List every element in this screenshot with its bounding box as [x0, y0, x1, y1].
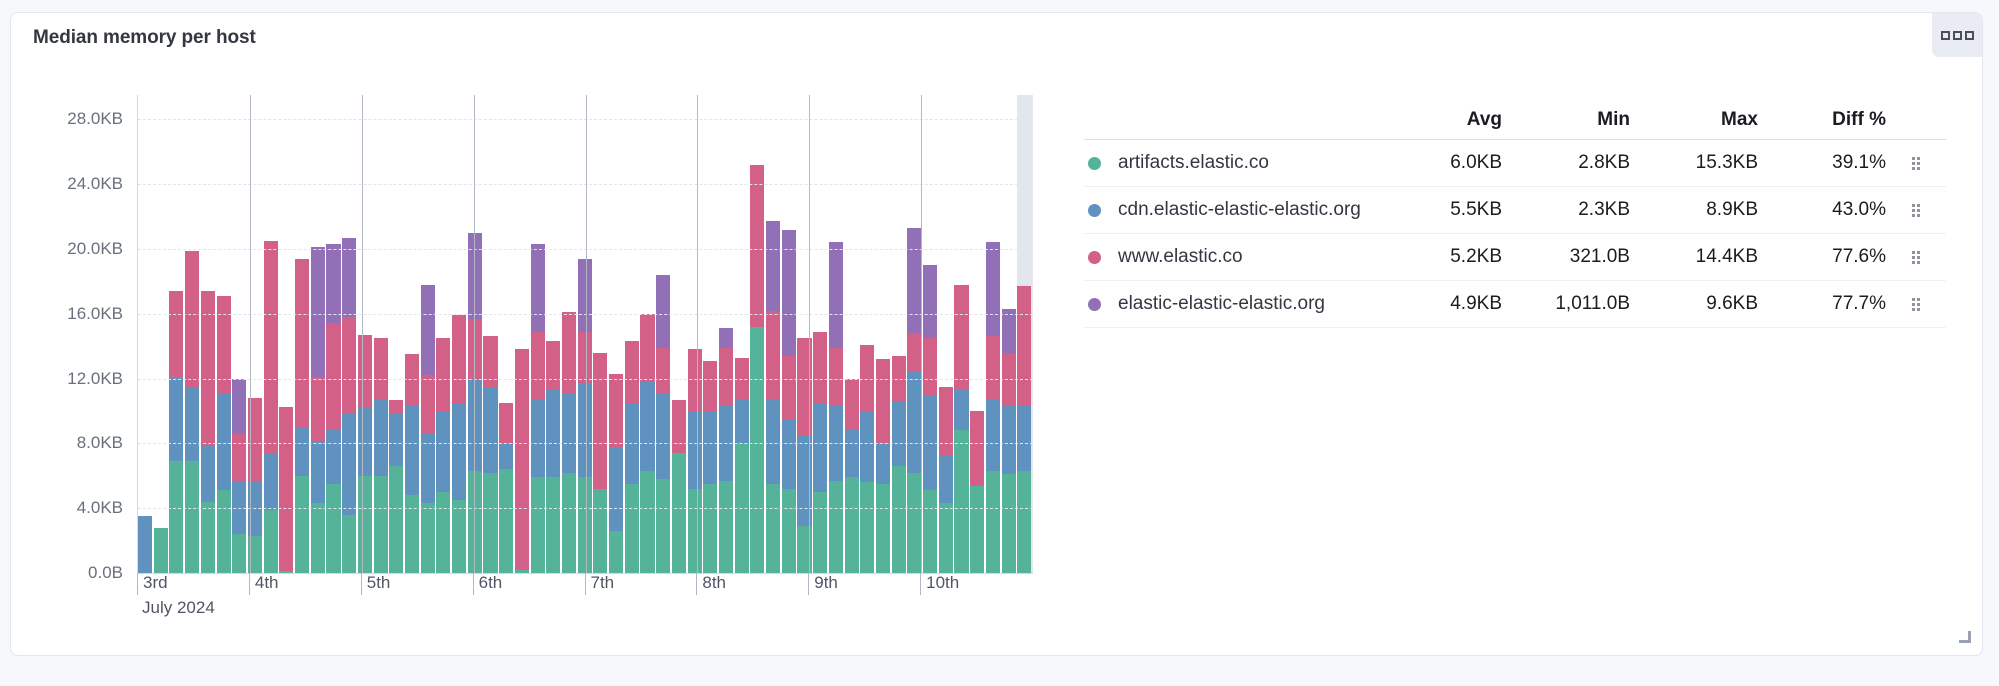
- bar-segment: [468, 319, 482, 379]
- bar-stack[interactable]: [468, 233, 482, 573]
- bar-segment: [766, 484, 780, 573]
- legend-series-label: artifacts.elastic.co: [1118, 152, 1374, 174]
- bar-segment: [625, 341, 639, 403]
- bar-segment: [719, 481, 733, 573]
- bar-stack[interactable]: [782, 230, 796, 573]
- bar-segment: [468, 471, 482, 573]
- y-axis-tick: 28.0KB: [67, 109, 123, 129]
- bar-stack[interactable]: [546, 341, 560, 573]
- bar-segment: [876, 443, 890, 484]
- bar-stack[interactable]: [264, 241, 278, 573]
- bar-segment: [436, 492, 450, 573]
- bar-segment: [939, 455, 953, 504]
- bar-stack[interactable]: [499, 403, 513, 573]
- bar-stack[interactable]: [609, 374, 623, 573]
- bar-stack[interactable]: [217, 296, 231, 573]
- bar-segment: [970, 411, 984, 486]
- bar-segment: [546, 477, 560, 573]
- bar-stack[interactable]: [436, 338, 450, 573]
- bar-segment: [1002, 405, 1016, 475]
- bar-segment: [295, 476, 309, 573]
- bar-stack[interactable]: [907, 228, 921, 573]
- day-separator: [250, 95, 251, 573]
- bar-stack[interactable]: [232, 379, 246, 573]
- bar-segment: [688, 411, 702, 489]
- bar-segment: [986, 400, 1000, 471]
- bar-segment: [782, 356, 796, 419]
- bar-stack[interactable]: [342, 238, 356, 573]
- bar-segment: [232, 534, 246, 573]
- grip-dots: [1912, 204, 1920, 217]
- bar-stack[interactable]: [154, 528, 168, 573]
- bar-stack[interactable]: [531, 244, 545, 573]
- bar-segment: [1017, 471, 1031, 573]
- bar-stack[interactable]: [421, 285, 435, 573]
- bar-segment: [656, 393, 670, 479]
- bar-stack[interactable]: [703, 361, 717, 573]
- bar-segment: [264, 510, 278, 573]
- bar-stack[interactable]: [1017, 286, 1031, 573]
- bar-segment: [656, 275, 670, 348]
- bar-segment: [907, 473, 921, 573]
- legend-min-value: 1,011.0B: [1502, 293, 1630, 315]
- bar-segment: [954, 285, 968, 390]
- bar-segment: [954, 430, 968, 573]
- bar-stack[interactable]: [970, 411, 984, 573]
- bar-segment: [232, 434, 246, 481]
- legend-header-row: AvgMinMaxDiff %: [1084, 101, 1946, 140]
- bar-segment: [311, 442, 325, 504]
- bar-segment: [468, 379, 482, 471]
- bar-segment: [311, 247, 325, 377]
- bar-segment: [499, 469, 513, 573]
- bar-segment: [609, 531, 623, 573]
- bar-segment: [860, 411, 874, 482]
- page-title: Median memory per host: [33, 27, 256, 49]
- bar-segment: [389, 414, 403, 466]
- legend-diff-header: Diff %: [1758, 109, 1886, 131]
- bar-stack[interactable]: [358, 335, 372, 573]
- bar-stack[interactable]: [656, 275, 670, 573]
- bar-segment: [169, 377, 183, 461]
- chart-area: 28.0KB24.0KB20.0KB16.0KB12.0KB8.0KB4.0KB…: [33, 73, 1073, 633]
- bar-segment: [986, 336, 1000, 399]
- bar-segment: [405, 495, 419, 573]
- bar-segment: [358, 476, 372, 573]
- bar-segment: [201, 502, 215, 573]
- bar-stack[interactable]: [845, 379, 859, 573]
- bar-segment: [311, 377, 325, 442]
- drag-handle-icon[interactable]: [1886, 251, 1946, 264]
- bar-stack[interactable]: [138, 516, 152, 573]
- bar-segment: [923, 490, 937, 573]
- bar-stack[interactable]: [1002, 309, 1016, 573]
- bar-stack[interactable]: [405, 354, 419, 573]
- bar-segment: [531, 244, 545, 331]
- y-axis-tick: 24.0KB: [67, 174, 123, 194]
- bar-segment: [531, 332, 545, 400]
- bar-segment: [829, 242, 843, 347]
- bar-segment: [436, 411, 450, 492]
- bar-segment: [907, 333, 921, 372]
- bar-segment: [876, 484, 890, 573]
- bar-segment: [342, 317, 356, 413]
- legend-avg-value: 6.0KB: [1374, 152, 1502, 174]
- bar-segment: [279, 407, 293, 571]
- bar-segment: [766, 311, 780, 400]
- bar-segment: [640, 382, 654, 471]
- bar-segment: [421, 285, 435, 376]
- bar-segment: [1002, 309, 1016, 353]
- bar-segment: [954, 390, 968, 431]
- legend-diff-value: 39.1%: [1758, 152, 1886, 174]
- bar-segment: [483, 473, 497, 573]
- bar-segment: [169, 461, 183, 573]
- bar-segment: [201, 445, 215, 502]
- bar-segment: [923, 338, 937, 396]
- bar-segment: [452, 500, 466, 573]
- bar-stack[interactable]: [939, 387, 953, 573]
- bar-segment: [860, 482, 874, 573]
- x-axis-sublabel: July 2024: [137, 598, 215, 618]
- bar-segment: [656, 348, 670, 393]
- bar-stack[interactable]: [829, 242, 843, 573]
- y-axis-tick: 12.0KB: [67, 369, 123, 389]
- bar-segment: [405, 406, 419, 495]
- bar-segment: [358, 335, 372, 408]
- bar-segment: [892, 401, 906, 466]
- legend-diff-value: 77.6%: [1758, 246, 1886, 268]
- bar-segment: [217, 490, 231, 573]
- bar-stack[interactable]: [483, 336, 497, 573]
- day-separator: [921, 95, 922, 573]
- day-separator: [362, 95, 363, 573]
- bar-stack[interactable]: [766, 221, 780, 573]
- day-separator: [474, 95, 475, 573]
- bar-segment: [326, 484, 340, 573]
- legend-min-value: 2.8KB: [1502, 152, 1630, 174]
- bar-segment: [640, 471, 654, 573]
- bar-stack[interactable]: [201, 291, 215, 573]
- y-axis-tick: 0.0B: [88, 563, 123, 583]
- bar-segment: [609, 447, 623, 531]
- bar-segment: [593, 353, 607, 489]
- grip-dots: [1912, 251, 1920, 264]
- bar-segment: [1017, 286, 1031, 406]
- bar-segment: [750, 327, 764, 573]
- bar-segment: [358, 408, 372, 476]
- legend-series-label: www.elastic.co: [1118, 246, 1374, 268]
- x-axis-tick: 4th: [249, 573, 279, 595]
- legend-avg-header: Avg: [1374, 109, 1502, 131]
- grip-dots: [1912, 157, 1920, 170]
- bar-stack[interactable]: [719, 328, 733, 573]
- y-axis: 28.0KB24.0KB20.0KB16.0KB12.0KB8.0KB4.0KB…: [33, 73, 133, 573]
- bar-stack[interactable]: [688, 349, 702, 573]
- bar-segment: [1017, 406, 1031, 471]
- x-axis-tick: 3rd: [137, 573, 168, 595]
- y-axis-tick: 8.0KB: [77, 433, 123, 453]
- legend-series-label: cdn.elastic-elastic-elastic.org: [1118, 199, 1374, 221]
- bar-segment: [813, 332, 827, 403]
- bar-segment: [876, 359, 890, 443]
- bar-stack[interactable]: [750, 165, 764, 573]
- bar-segment: [735, 400, 749, 444]
- legend-diff-value: 43.0%: [1758, 199, 1886, 221]
- bar-stack[interactable]: [374, 338, 388, 573]
- x-axis-tick: 5th: [361, 573, 391, 595]
- bar-stack[interactable]: [593, 353, 607, 573]
- bar-segment: [829, 481, 843, 573]
- legend-diff-value: 77.7%: [1758, 293, 1886, 315]
- bar-segment: [703, 411, 717, 484]
- bar-segment: [625, 484, 639, 573]
- legend-avg-value: 5.2KB: [1374, 246, 1502, 268]
- bar-segment: [217, 393, 231, 490]
- bar-segment: [374, 400, 388, 476]
- bar-stack[interactable]: [169, 291, 183, 573]
- square-glyph-3: [1965, 31, 1974, 40]
- legend-avg-value: 5.5KB: [1374, 199, 1502, 221]
- legend-row[interactable]: cdn.elastic-elastic-elastic.org5.5KB2.3K…: [1084, 187, 1946, 234]
- bar-segment: [672, 453, 686, 573]
- grip-dots: [1912, 298, 1920, 311]
- bar-segment: [531, 477, 545, 573]
- legend-min-value: 321.0B: [1502, 246, 1630, 268]
- bar-segment: [264, 241, 278, 453]
- bar-segment: [138, 516, 152, 573]
- bar-segment: [703, 484, 717, 573]
- bar-segment: [342, 413, 356, 515]
- legend-row[interactable]: www.elastic.co5.2KB321.0B14.4KB77.6%: [1084, 234, 1946, 281]
- drag-handle-icon[interactable]: [1886, 204, 1946, 217]
- bar-segment: [389, 466, 403, 573]
- bar-stack[interactable]: [954, 285, 968, 573]
- legend-color-dot-cell[interactable]: [1084, 298, 1118, 311]
- legend-series-label: elastic-elastic-elastic.org: [1118, 293, 1374, 315]
- bar-segment: [688, 489, 702, 573]
- bar-segment: [782, 419, 796, 489]
- bar-segment: [436, 338, 450, 411]
- x-axis: 3rd4th5th6th7th8th9th10thJuly 2024: [137, 573, 1032, 633]
- x-axis-tick: 8th: [696, 573, 726, 595]
- bar-segment: [421, 503, 435, 573]
- dashboard-panel: Median memory per host 28.0KB24.0KB20.0K…: [10, 12, 1983, 656]
- bar-segment: [389, 400, 403, 415]
- bar-segment: [939, 387, 953, 455]
- bar-segment: [892, 466, 906, 573]
- bar-segment: [483, 387, 497, 473]
- bar-segment: [405, 354, 419, 406]
- bar-segment: [421, 375, 435, 433]
- y-axis-tick: 20.0KB: [67, 239, 123, 259]
- legend-min-header: Min: [1502, 109, 1630, 131]
- legend-min-value: 2.3KB: [1502, 199, 1630, 221]
- bar-segment: [562, 312, 576, 393]
- bar-segment: [342, 515, 356, 573]
- bar-stack[interactable]: [185, 251, 199, 573]
- bar-segment: [295, 427, 309, 476]
- bar-segment: [468, 233, 482, 319]
- bar-segment: [562, 473, 576, 573]
- bar-stack[interactable]: [923, 265, 937, 573]
- bar-segment: [295, 259, 309, 428]
- bar-segment: [923, 265, 937, 338]
- legend-max-header: Max: [1630, 109, 1758, 131]
- legend-max-value: 15.3KB: [1630, 152, 1758, 174]
- bar-segment: [546, 341, 560, 390]
- bar-stack[interactable]: [295, 259, 309, 573]
- bar-segment: [813, 492, 827, 573]
- bar-segment: [374, 476, 388, 573]
- legend-color-dot-cell[interactable]: [1084, 157, 1118, 170]
- bar-segment: [688, 349, 702, 411]
- bar-segment: [750, 165, 764, 327]
- bar-segment: [829, 348, 843, 406]
- bar-segment: [311, 503, 325, 573]
- bar-segment: [907, 372, 921, 472]
- bar-segment: [845, 379, 859, 429]
- bar-stack[interactable]: [515, 349, 529, 573]
- bar-segment: [845, 429, 859, 478]
- square-glyph-2: [1953, 31, 1962, 40]
- legend-color-dot-icon: [1088, 298, 1101, 311]
- bar-segment: [703, 361, 717, 411]
- bar-segment: [154, 528, 168, 573]
- legend-table: AvgMinMaxDiff %artifacts.elastic.co6.0KB…: [1084, 101, 1946, 328]
- legend-max-value: 14.4KB: [1630, 246, 1758, 268]
- bar-segment: [326, 323, 340, 430]
- bar-segment: [531, 400, 545, 478]
- bar-segment: [986, 471, 1000, 573]
- day-separator: [809, 95, 810, 573]
- bar-segment: [672, 400, 686, 453]
- bar-stack[interactable]: [892, 356, 906, 573]
- bar-stack[interactable]: [625, 341, 639, 573]
- bar-segment: [766, 221, 780, 310]
- panel-header: Median memory per host: [11, 13, 1982, 69]
- legend-avg-value: 4.9KB: [1374, 293, 1502, 315]
- bar-segment: [813, 403, 827, 492]
- bar-segment: [970, 486, 984, 573]
- legend-row[interactable]: artifacts.elastic.co6.0KB2.8KB15.3KB39.1…: [1084, 140, 1946, 187]
- legend-max-value: 9.6KB: [1630, 293, 1758, 315]
- bar-segment: [656, 479, 670, 573]
- x-axis-tick: 6th: [473, 573, 503, 595]
- bar-segment: [185, 387, 199, 462]
- bar-segment: [452, 315, 466, 402]
- bar-stack[interactable]: [672, 400, 686, 573]
- bar-segment: [719, 348, 733, 405]
- bar-stack[interactable]: [986, 242, 1000, 573]
- bar-segment: [185, 461, 199, 573]
- bar-segment: [264, 453, 278, 510]
- bar-segment: [593, 489, 607, 573]
- legend-row[interactable]: elastic-elastic-elastic.org4.9KB1,011.0B…: [1084, 281, 1946, 328]
- panel-options-icon[interactable]: [1932, 13, 1982, 57]
- bar-stack[interactable]: [876, 359, 890, 573]
- bar-segment: [452, 403, 466, 500]
- resize-handle-icon[interactable]: [1956, 631, 1972, 647]
- bar-segment: [719, 328, 733, 347]
- bar-segment: [499, 443, 513, 469]
- x-axis-tick: 7th: [585, 573, 615, 595]
- bar-segment: [169, 291, 183, 377]
- bar-segment: [845, 477, 859, 573]
- bar-segment: [562, 393, 576, 472]
- bar-stack[interactable]: [813, 332, 827, 573]
- x-axis-tick: 9th: [808, 573, 838, 595]
- bar-stack[interactable]: [389, 400, 403, 573]
- day-separator: [697, 95, 698, 573]
- plot-region[interactable]: [137, 95, 1033, 574]
- bar-segment: [766, 400, 780, 484]
- bar-segment: [609, 374, 623, 447]
- bar-segment: [185, 251, 199, 387]
- bar-segment: [1002, 474, 1016, 573]
- legend-color-dot-icon: [1088, 157, 1101, 170]
- bar-segment: [499, 403, 513, 444]
- legend-color-dot-cell[interactable]: [1084, 204, 1118, 217]
- legend-color-dot-icon: [1088, 204, 1101, 217]
- bar-segment: [232, 379, 246, 434]
- bar-segment: [374, 338, 388, 400]
- square-glyph-1: [1941, 31, 1950, 40]
- bar-segment: [515, 349, 529, 569]
- bar-segment: [939, 503, 953, 573]
- bar-segment: [782, 489, 796, 573]
- bar-stack[interactable]: [279, 407, 293, 573]
- bar-segment: [907, 228, 921, 333]
- bar-segment: [546, 390, 560, 477]
- bar-segment: [640, 314, 654, 382]
- legend-max-value: 8.9KB: [1630, 199, 1758, 221]
- day-separator: [586, 95, 587, 573]
- y-axis-tick: 16.0KB: [67, 304, 123, 324]
- bar-segment: [326, 430, 340, 483]
- bar-stack[interactable]: [311, 247, 325, 573]
- y-axis-tick: 4.0KB: [77, 498, 123, 518]
- drag-handle-icon[interactable]: [1886, 298, 1946, 311]
- bar-stack[interactable]: [326, 244, 340, 573]
- bar-segment: [326, 244, 340, 323]
- bar-segment: [986, 242, 1000, 336]
- drag-handle-icon[interactable]: [1886, 157, 1946, 170]
- x-axis-tick: 10th: [920, 573, 959, 595]
- legend-color-dot-cell[interactable]: [1084, 251, 1118, 264]
- legend-color-dot-icon: [1088, 251, 1101, 264]
- bar-stack[interactable]: [735, 358, 749, 573]
